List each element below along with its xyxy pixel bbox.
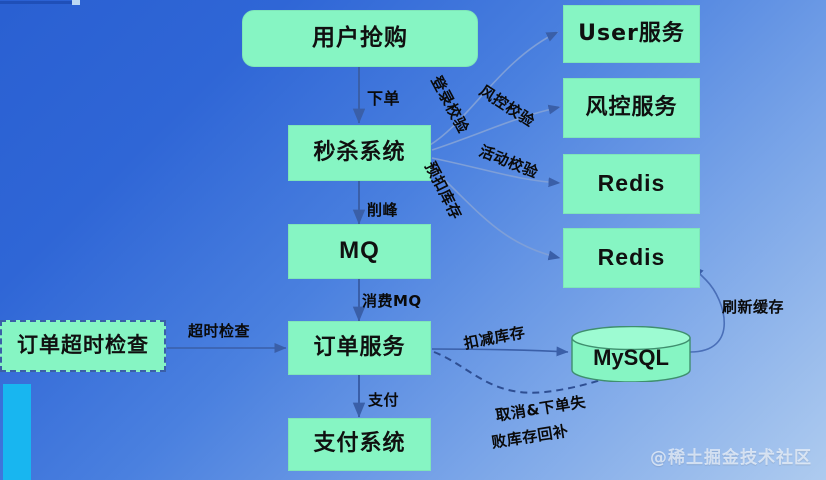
edge-label-activity-check: 活动校验 xyxy=(476,140,541,183)
edge-label-riskctrl-check: 风控校验 xyxy=(476,80,539,131)
node-user-service[interactable]: User服务 xyxy=(563,5,700,63)
top-bar-tip xyxy=(72,0,80,5)
edge-label-consume-mq: 消费MQ xyxy=(362,290,422,311)
cyan-accent-block xyxy=(3,384,31,480)
node-mysql[interactable]: MySQL xyxy=(570,326,692,382)
edge-label-place-order: 下单 xyxy=(367,85,400,109)
edge-label-refresh-cache: 刷新缓存 xyxy=(722,296,784,317)
edge-label-timeout-check: 超时检查 xyxy=(188,320,250,341)
node-order-timeout-check[interactable]: 订单超时检查 xyxy=(0,320,166,372)
edge-label-pre-deduct-stock: 预扣库存 xyxy=(420,158,467,223)
node-payment-system[interactable]: 支付系统 xyxy=(288,418,431,471)
node-order-service[interactable]: 订单服务 xyxy=(288,321,431,375)
node-seckill-system[interactable]: 秒杀系统 xyxy=(288,125,431,181)
node-mq[interactable]: MQ xyxy=(288,224,431,279)
edge-label-pay: 支付 xyxy=(368,389,399,410)
diagram-canvas: 用户抢购 秒杀系统 MQ 订单服务 支付系统 User服务 风控服务 Redis… xyxy=(0,0,826,480)
edge-label-peak-shaving: 削峰 xyxy=(367,199,398,220)
node-mysql-label: MySQL xyxy=(570,338,692,378)
edge-label-stock-rollback-line1: 取消&下单失 xyxy=(494,391,587,426)
node-redis-1[interactable]: Redis xyxy=(563,154,700,214)
node-redis-2[interactable]: Redis xyxy=(563,228,700,288)
node-riskctrl-service[interactable]: 风控服务 xyxy=(563,78,700,138)
top-bar-accent xyxy=(0,1,74,4)
edge-label-deduct-stock: 扣减库存 xyxy=(462,321,527,353)
node-user-purchase[interactable]: 用户抢购 xyxy=(242,10,478,67)
watermark: @稀土掘金技术社区 xyxy=(650,443,812,468)
edge-label-login-check: 登录校验 xyxy=(426,72,474,137)
